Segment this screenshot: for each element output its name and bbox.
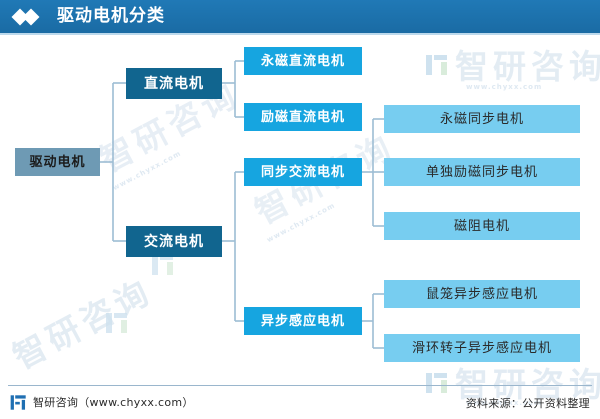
node-dc-motor[interactable]: 直流电机	[126, 68, 222, 99]
node-reluctance-motor[interactable]: 磁阻电机	[384, 212, 580, 240]
node-slip-ring-rotor-motor[interactable]: 滑环转子异步感应电机	[384, 334, 580, 362]
node-pm-sync-motor[interactable]: 永磁同步电机	[384, 105, 580, 133]
node-separately-excited-sync-motor[interactable]: 单独励磁同步电机	[384, 158, 580, 186]
node-sync-ac-motor[interactable]: 同步交流电机	[244, 158, 362, 186]
footer-brand-text: 智研咨询（www.chyxx.com）	[33, 394, 194, 410]
chyxx-logo-icon	[10, 394, 27, 411]
node-async-induction-motor[interactable]: 异步感应电机	[244, 307, 362, 335]
page-root: 智研咨询 www.chyxx.com 智研咨询 www.chyxx.com 智研…	[0, 0, 600, 419]
node-root[interactable]: 驱动电机	[15, 148, 100, 176]
footer-brand: 智研咨询（www.chyxx.com）	[10, 392, 194, 412]
node-excited-dc-motor[interactable]: 励磁直流电机	[244, 103, 362, 131]
double-diamond-icon	[13, 8, 45, 26]
node-squirrel-cage-motor[interactable]: 鼠笼异步感应电机	[384, 280, 580, 308]
page-header: 驱动电机分类	[0, 0, 600, 33]
node-ac-motor[interactable]: 交流电机	[126, 226, 222, 257]
footer-source-text: 资料来源：公开资料整理	[466, 395, 590, 411]
node-pm-dc-motor[interactable]: 永磁直流电机	[244, 47, 362, 75]
page-title: 驱动电机分类	[57, 8, 165, 25]
tree-diagram: 驱动电机 直流电机 交流电机 永磁直流电机 励磁直流电机 同步交流电机 异步感应…	[0, 33, 600, 376]
footer-divider	[8, 385, 592, 386]
